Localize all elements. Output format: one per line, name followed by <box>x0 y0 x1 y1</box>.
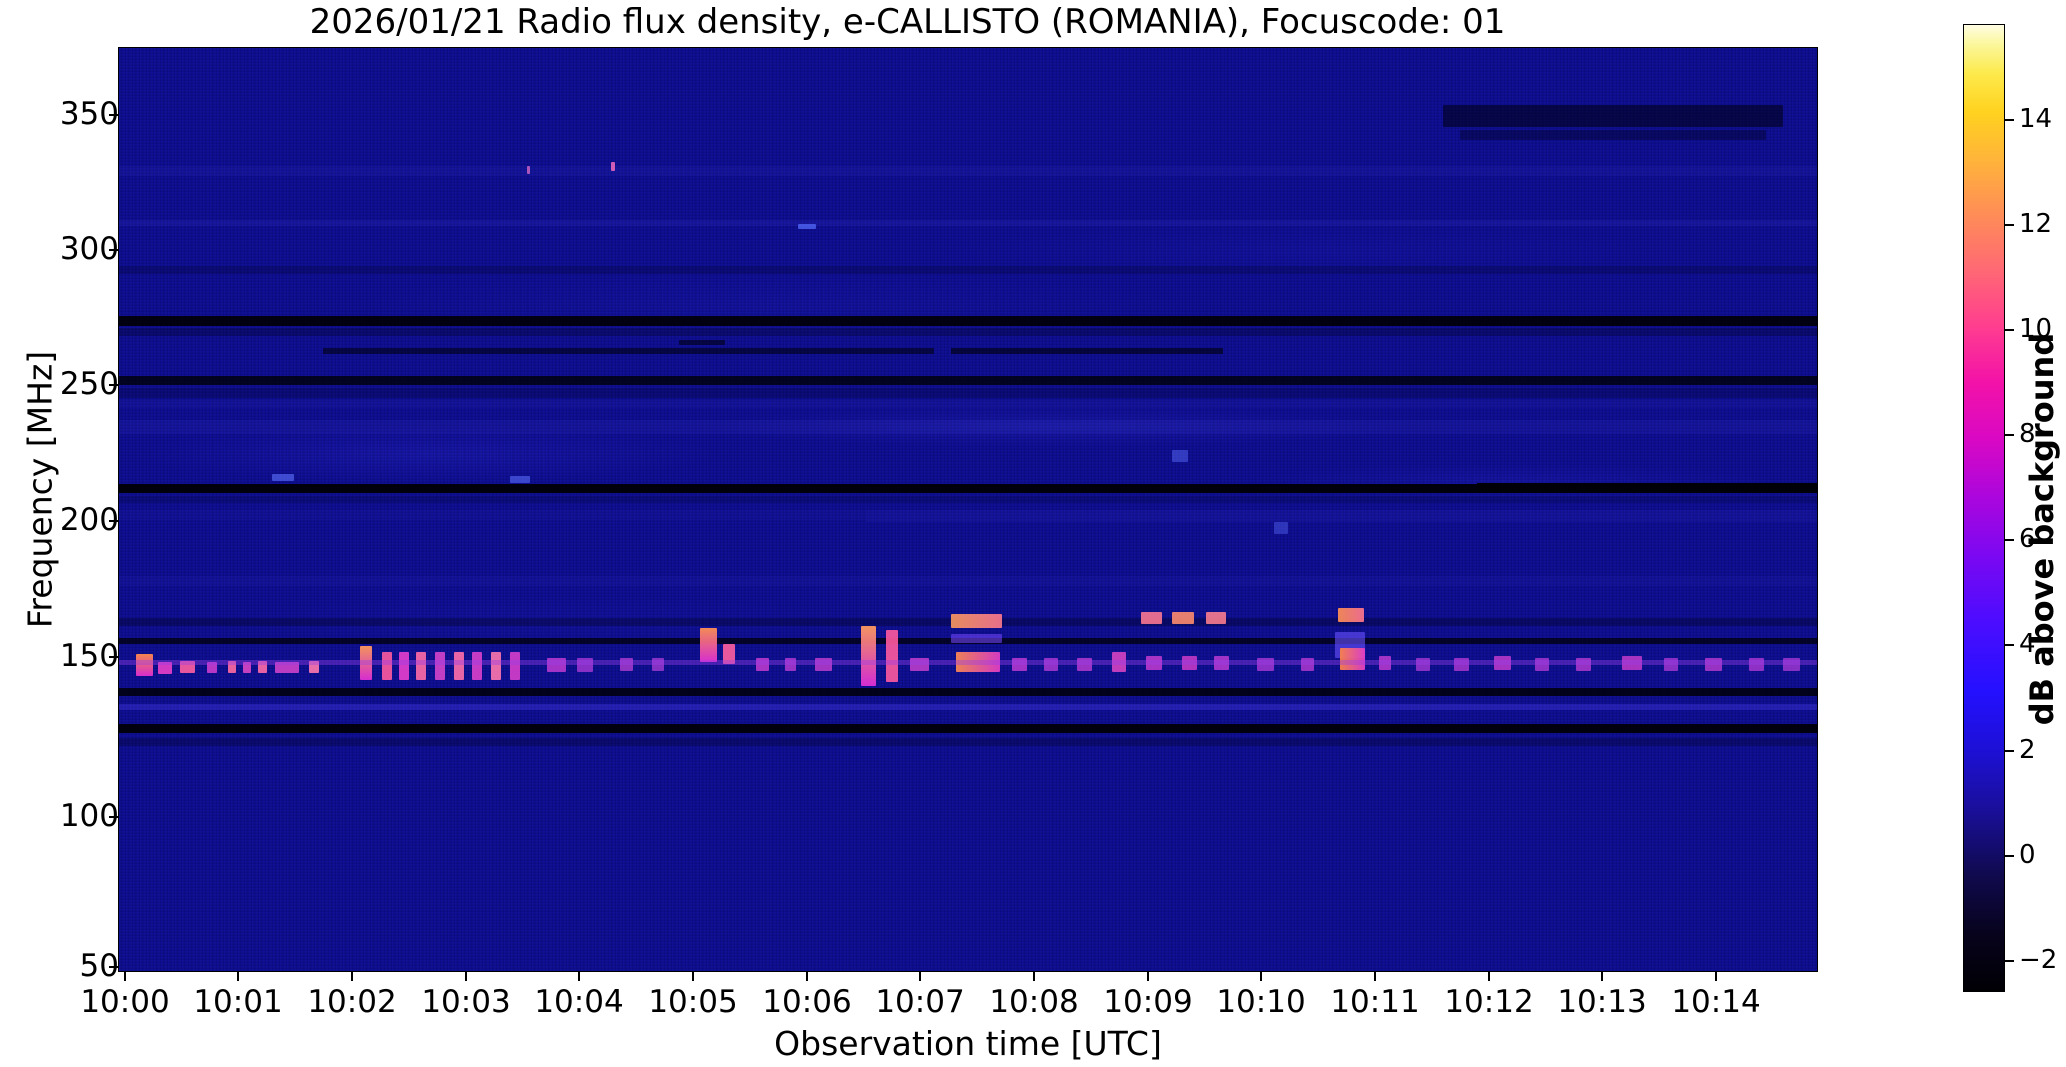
xtick-label-1007: 10:07 <box>875 984 964 1020</box>
rfi-line-135mhz <box>119 660 1817 665</box>
xtick-label-1000: 10:00 <box>80 984 169 1020</box>
rfi-speck <box>798 224 816 229</box>
rfi-speck <box>679 340 725 345</box>
band-dark-131mhz <box>119 688 1817 696</box>
xtick-mark-11 <box>1374 972 1376 981</box>
xtick-mark-12 <box>1488 972 1490 981</box>
rfi-speck <box>1172 450 1188 462</box>
ytick-label-50: 50 <box>80 948 119 984</box>
ytick-label-200: 200 <box>60 502 119 538</box>
rfi-blob <box>454 652 464 680</box>
band-dim-200mhz <box>119 496 1817 503</box>
rfi-blob <box>472 652 482 680</box>
band-165mhz <box>119 576 1817 586</box>
colorbar-gradient <box>1963 24 2005 992</box>
spectrogram-plot-area <box>118 47 1818 972</box>
band-320mhz <box>119 166 1817 176</box>
xtick-label-1014: 10:14 <box>1671 984 1760 1020</box>
colorbar: 14 12 10 8 6 4 2 0 −2 <box>1963 24 2005 992</box>
ytick-label-250: 250 <box>60 366 119 402</box>
cbtick-mark-8 <box>2005 434 2014 436</box>
rfi-blob <box>416 652 426 680</box>
rfi-blob <box>382 652 392 680</box>
xtick-mark-10 <box>1260 972 1262 981</box>
band-dark-206mhz-right <box>1477 483 1817 493</box>
band-235mhz <box>119 400 1817 408</box>
xtick-label-1004: 10:04 <box>534 984 623 1020</box>
page-title: 2026/01/21 Radio flux density, e-CALLIST… <box>0 2 1815 42</box>
band-dim-116mhz <box>119 738 1817 746</box>
cbtick-mark-4 <box>2005 644 2014 646</box>
rfi-speck <box>272 474 294 481</box>
rfi-blob <box>1340 648 1365 670</box>
xtick-label-1013: 10:13 <box>1557 984 1646 1020</box>
xtick-label-1005: 10:05 <box>648 984 737 1020</box>
rfi-blob <box>435 652 445 680</box>
rfi-blob <box>136 654 153 676</box>
x-axis-label: Observation time [UTC] <box>118 1024 1818 1063</box>
artifact-dark-rect <box>1443 105 1783 127</box>
rfi-blob <box>886 630 898 682</box>
ytick-label-150: 150 <box>60 638 119 674</box>
xtick-label-1006: 10:06 <box>762 984 851 1020</box>
xtick-mark-14 <box>1715 972 1717 981</box>
artifact-dark-rect-2 <box>1460 130 1766 140</box>
xtick-mark-4 <box>578 972 580 981</box>
ytick-label-350: 350 <box>60 96 119 132</box>
rfi-speck <box>1274 522 1288 534</box>
xtick-label-1012: 10:12 <box>1444 984 1533 1020</box>
cbtick-mark-14 <box>2005 119 2014 121</box>
band-300mhz <box>119 220 1817 226</box>
band-dim-285mhz <box>119 266 1817 274</box>
xtick-mark-6 <box>806 972 808 981</box>
rfi-blob <box>510 652 520 680</box>
cbtick-mark-6 <box>2005 539 2014 541</box>
band-dim-262mhz <box>119 328 1817 336</box>
xtick-mark-2 <box>351 972 353 981</box>
xtick-label-1008: 10:08 <box>989 984 1078 1020</box>
cbtick-mark-2 <box>2005 750 2014 752</box>
xtick-label-1011: 10:11 <box>1330 984 1419 1020</box>
colorbar-label-holder: dB above background <box>2018 0 2066 1067</box>
rfi-blob <box>951 614 1002 628</box>
band-190mhz <box>866 510 1817 522</box>
xtick-label-1010: 10:10 <box>1216 984 1305 1020</box>
xtick-mark-9 <box>1147 972 1149 981</box>
band-dark-258mhz <box>323 348 934 354</box>
rfi-speck <box>527 166 530 174</box>
xtick-mark-3 <box>465 972 467 981</box>
rfi-blob <box>1206 612 1226 624</box>
xtick-mark-13 <box>1601 972 1603 981</box>
ytick-label-100: 100 <box>60 798 119 834</box>
xtick-label-1009: 10:09 <box>1103 984 1192 1020</box>
band-dim-243mhz <box>119 388 1817 398</box>
rfi-blob <box>1172 612 1194 624</box>
cbtick-mark-0 <box>2005 855 2014 857</box>
xtick-mark-5 <box>692 972 694 981</box>
rfi-speck <box>510 476 530 483</box>
band-dark-248mhz <box>119 376 1817 385</box>
xtick-label-1002: 10:02 <box>307 984 396 1020</box>
colorbar-label: dB above background <box>2023 179 2061 879</box>
cbtick-mark-12 <box>2005 224 2014 226</box>
y-axis-label: Frequency [MHz] <box>21 90 60 890</box>
spectrogram-figure: 2026/01/21 Radio flux density, e-CALLIST… <box>0 0 2066 1067</box>
cbtick-mark-minus2 <box>2005 960 2014 962</box>
band-dark-255mhz <box>951 348 1223 354</box>
xtick-mark-0 <box>124 972 126 981</box>
rfi-blob <box>1338 608 1363 622</box>
xtick-mark-7 <box>919 972 921 981</box>
rfi-blob <box>1141 612 1161 624</box>
xtick-mark-1 <box>237 972 239 981</box>
rfi-line-126mhz <box>119 704 1817 710</box>
cbtick-mark-10 <box>2005 329 2014 331</box>
band-dark-268mhz <box>119 316 1817 326</box>
band-225mhz <box>119 420 1817 434</box>
band-dark-121mhz <box>119 724 1817 733</box>
rfi-speck <box>611 162 615 171</box>
rfi-blob <box>861 626 876 686</box>
rfi-blob <box>491 652 501 680</box>
rfi-blob <box>399 652 409 680</box>
band-190mhz-left <box>119 510 866 520</box>
rfi-blob <box>700 628 717 662</box>
rfi-blob <box>951 634 1002 643</box>
xtick-label-1001: 10:01 <box>193 984 282 1020</box>
ytick-label-300: 300 <box>60 231 119 267</box>
xtick-label-1003: 10:03 <box>421 984 510 1020</box>
xtick-mark-8 <box>1033 972 1035 981</box>
